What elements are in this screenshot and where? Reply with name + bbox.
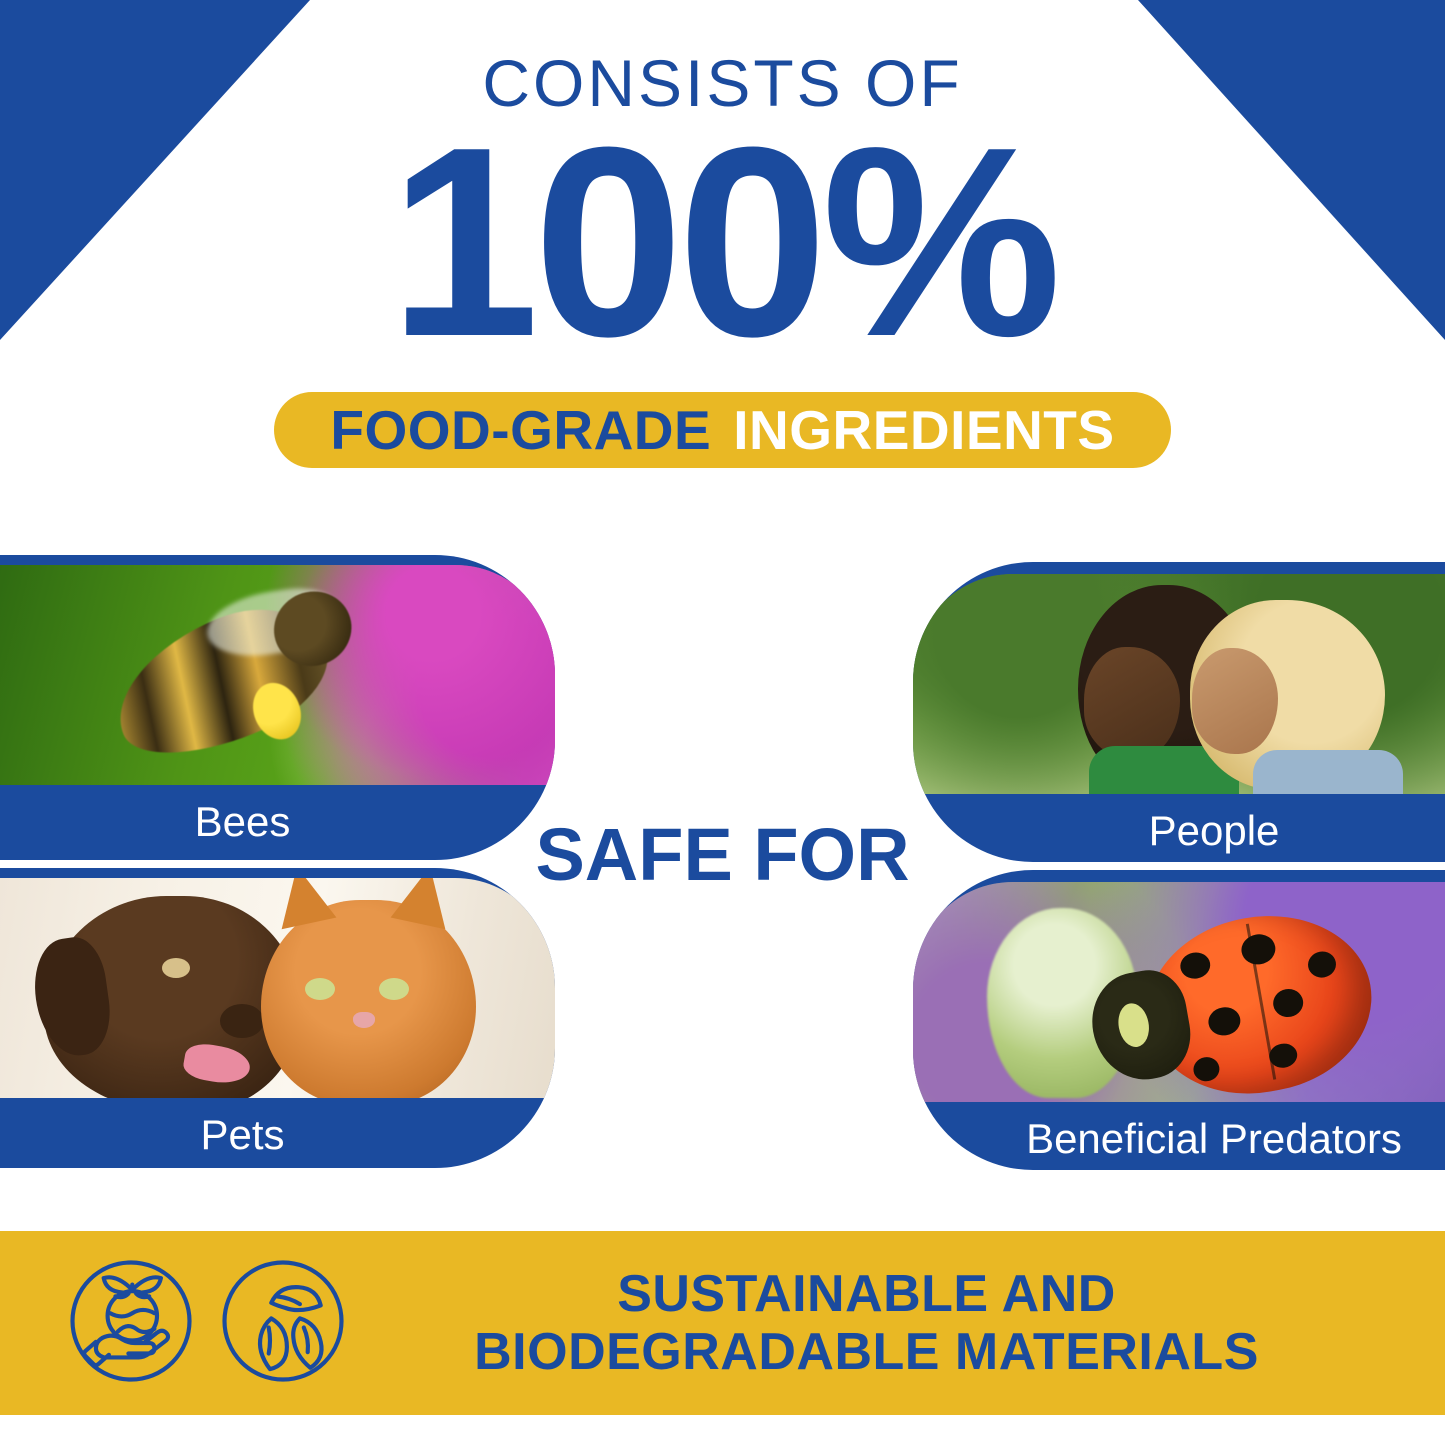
hero-percentage: 100%: [0, 124, 1445, 362]
hero-section: CONSISTS OF 100%: [0, 0, 1445, 362]
sustainability-banner-line2: BIODEGRADABLE MATERIALS: [348, 1323, 1385, 1381]
pets-photo: [0, 878, 555, 1098]
people-photo: [913, 574, 1445, 794]
ingredients-pill-primary-text: FOOD-GRADE: [330, 403, 711, 458]
safe-for-card-pets[interactable]: Pets: [0, 868, 555, 1168]
safe-for-card-people[interactable]: People: [913, 562, 1445, 862]
safe-for-card-label-people: People: [913, 794, 1445, 852]
ingredients-pill-wrapper: FOOD-GRADE INGREDIENTS: [0, 392, 1445, 468]
safe-for-card-bees[interactable]: Bees: [0, 555, 555, 860]
ingredients-pill-secondary-text: INGREDIENTS: [733, 403, 1114, 458]
ingredients-pill: FOOD-GRADE INGREDIENTS: [274, 392, 1170, 468]
sustainability-banner: SUSTAINABLE AND BIODEGRADABLE MATERIALS: [0, 1231, 1445, 1415]
hand-holding-globe-sprout-icon: [66, 1256, 196, 1391]
safe-for-card-label-pets: Pets: [0, 1098, 555, 1156]
safe-for-card-beneficial-predators[interactable]: Beneficial Predators: [913, 870, 1445, 1170]
sustainability-banner-line1: SUSTAINABLE AND: [348, 1265, 1385, 1323]
sustainability-icon-group: [66, 1256, 348, 1391]
safe-for-card-label-beneficial-predators: Beneficial Predators: [913, 1102, 1445, 1160]
sustainability-banner-text: SUSTAINABLE AND BIODEGRADABLE MATERIALS: [348, 1265, 1445, 1381]
beneficial-predators-photo: [913, 882, 1445, 1102]
bees-photo: [0, 565, 555, 785]
safe-for-card-label-bees: Bees: [0, 785, 555, 843]
recycling-leaves-icon: [218, 1256, 348, 1391]
